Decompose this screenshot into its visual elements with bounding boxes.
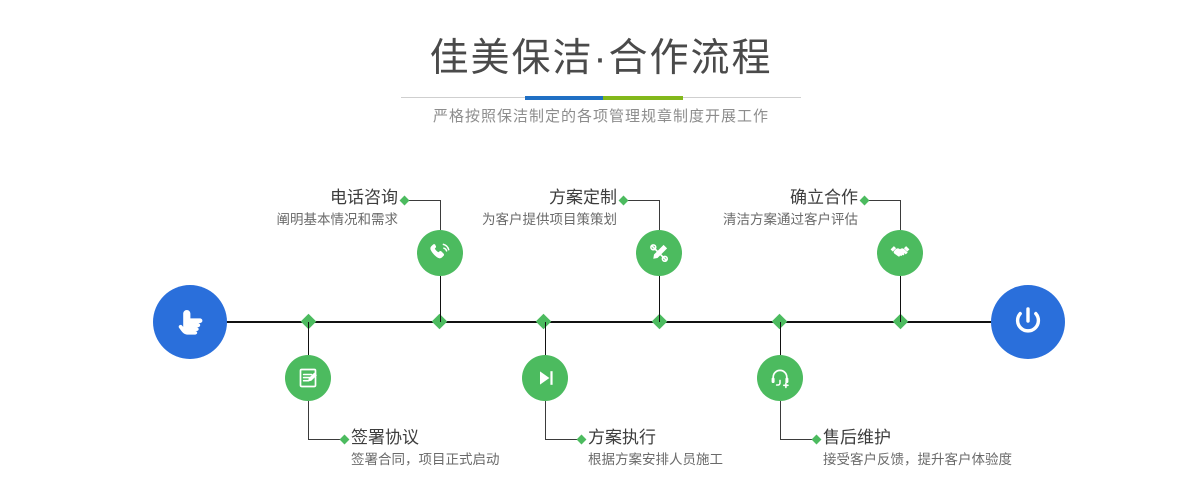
step-label-5: 确立合作 清洁方案通过客户评估	[640, 187, 858, 230]
page-subtitle: 严格按照保洁制定的各项管理规章制度开展工作	[0, 105, 1202, 129]
title-divider	[401, 96, 801, 100]
step-label-1: 电话咨询 阐明基本情况和需求	[186, 187, 398, 230]
step-title-6: 售后维护	[823, 427, 1073, 449]
connector-dot-step-2	[340, 435, 350, 445]
step-desc-5: 清洁方案通过客户评估	[640, 209, 858, 230]
step-label-2: 签署协议 签署合同，项目正式启动	[351, 427, 581, 470]
step-node-6[interactable]	[757, 355, 803, 401]
step-desc-2: 签署合同，项目正式启动	[351, 449, 581, 470]
stem-step-4	[545, 322, 546, 355]
step-node-5[interactable]	[877, 230, 923, 276]
step-title-2: 签署协议	[351, 427, 581, 449]
step-desc-3: 为客户提供项目策策划	[400, 209, 617, 230]
divider-segment-green	[603, 96, 683, 100]
step-label-6: 售后维护 接受客户反馈，提升客户体验度	[823, 427, 1073, 470]
step-label-3: 方案定制 为客户提供项目策策划	[400, 187, 617, 230]
step-title-5: 确立合作	[640, 187, 858, 209]
step-title-4: 方案执行	[588, 427, 818, 449]
connector-h-step-6	[780, 439, 815, 440]
connector-dot-step-5	[860, 196, 870, 206]
step-desc-6: 接受客户反馈，提升客户体验度	[823, 449, 1073, 470]
stem-step-1	[440, 276, 441, 322]
connector-v-step-5	[900, 200, 901, 230]
stem-step-3	[659, 276, 660, 322]
connector-dot-step-3	[619, 196, 629, 206]
step-node-1[interactable]	[417, 230, 463, 276]
connector-v-step-6	[780, 401, 781, 439]
connector-v-step-2	[308, 401, 309, 439]
step-label-4: 方案执行 根据方案安排人员施工	[588, 427, 818, 470]
page-title: 佳美保洁·合作流程	[0, 36, 1202, 82]
step-desc-4: 根据方案安排人员施工	[588, 449, 818, 470]
connector-v-step-4	[545, 401, 546, 439]
divider-segment-blue	[525, 96, 603, 100]
connector-h-step-4	[545, 439, 580, 440]
start-endpoint	[153, 285, 227, 359]
step-node-3[interactable]	[636, 230, 682, 276]
step-title-3: 方案定制	[400, 187, 617, 209]
process-flow-infographic: 佳美保洁·合作流程 严格按照保洁制定的各项管理规章制度开展工作	[0, 0, 1202, 502]
step-desc-1: 阐明基本情况和需求	[186, 209, 398, 230]
end-endpoint	[991, 285, 1065, 359]
connector-h-step-2	[308, 439, 343, 440]
connector-h-step-5	[866, 200, 901, 201]
step-node-2[interactable]	[285, 355, 331, 401]
stem-step-6	[780, 322, 781, 355]
stem-step-2	[308, 322, 309, 355]
axis-marker-3	[536, 314, 552, 330]
step-title-1: 电话咨询	[186, 187, 398, 209]
step-node-4[interactable]	[522, 355, 568, 401]
stem-step-5	[900, 276, 901, 322]
